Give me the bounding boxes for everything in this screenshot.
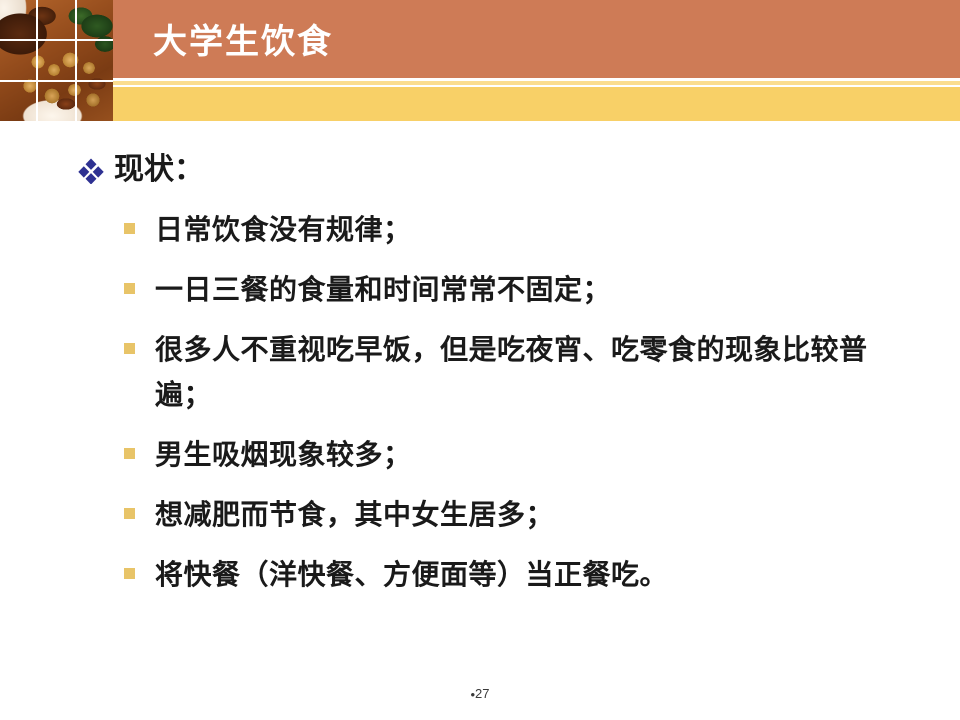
content-heading-row: 现状： bbox=[78, 150, 204, 190]
list-item: 男生吸烟现象较多； bbox=[124, 432, 924, 477]
list-item: 将快餐（洋快餐、方便面等）当正餐吃。 bbox=[124, 552, 924, 597]
food-photo-art bbox=[38, 0, 74, 39]
slide-title: 大学生饮食 bbox=[153, 14, 853, 70]
list-item-label: 男生吸烟现象较多； bbox=[155, 432, 412, 477]
food-photo-art bbox=[0, 82, 36, 121]
list-item-label: 一日三餐的食量和时间常常不固定； bbox=[155, 267, 611, 312]
food-photo-art bbox=[77, 0, 113, 39]
list-item-label: 将快餐（洋快餐、方便面等）当正餐吃。 bbox=[155, 552, 668, 597]
list-item: 很多人不重视吃早饭，但是吃夜宵、吃零食的现象比较普遍； bbox=[124, 327, 924, 417]
page-number: •27 bbox=[470, 686, 489, 701]
header-food-photo bbox=[0, 0, 113, 121]
square-bullet-icon bbox=[124, 283, 135, 294]
square-bullet-icon bbox=[124, 343, 135, 354]
header-yellow-band bbox=[113, 87, 960, 121]
slide-body: 现状： 日常饮食没有规律； 一日三餐的食量和时间常常不固定； 很多人不重视吃早饭… bbox=[0, 125, 960, 670]
list-item-label: 日常饮食没有规律； bbox=[155, 207, 412, 252]
food-photo-art bbox=[0, 0, 36, 39]
slide: 大学生饮食 现状： 日常饮食没有规律； 一日三餐的食量和时间常常不固定； bbox=[0, 0, 960, 720]
list-item: 日常饮食没有规律； bbox=[124, 207, 924, 252]
food-photo-art bbox=[77, 82, 113, 121]
content-heading: 现状： bbox=[114, 150, 204, 190]
square-bullet-icon bbox=[124, 448, 135, 459]
photo-tile bbox=[0, 0, 36, 39]
list-item: 一日三餐的食量和时间常常不固定； bbox=[124, 267, 924, 312]
slide-header: 大学生饮食 bbox=[0, 0, 960, 125]
photo-tile bbox=[0, 82, 36, 121]
square-bullet-icon bbox=[124, 508, 135, 519]
square-bullet-icon bbox=[124, 223, 135, 234]
food-photo-art bbox=[38, 82, 74, 121]
bullet-list: 日常饮食没有规律； 一日三餐的食量和时间常常不固定； 很多人不重视吃早饭，但是吃… bbox=[124, 207, 924, 612]
diamond-cluster-bullet-icon bbox=[78, 158, 104, 184]
photo-tile bbox=[0, 41, 36, 80]
list-item-label: 很多人不重视吃早饭，但是吃夜宵、吃零食的现象比较普遍； bbox=[155, 327, 895, 417]
food-photo-art bbox=[0, 41, 36, 80]
photo-tile bbox=[38, 82, 74, 121]
food-photo-art bbox=[77, 41, 113, 80]
page-number-value: 27 bbox=[475, 686, 489, 701]
food-photo-art bbox=[38, 41, 74, 80]
photo-tile bbox=[38, 0, 74, 39]
list-item: 想减肥而节食，其中女生居多； bbox=[124, 492, 924, 537]
square-bullet-icon bbox=[124, 568, 135, 579]
photo-tile bbox=[38, 41, 74, 80]
list-item-label: 想减肥而节食，其中女生居多； bbox=[155, 492, 554, 537]
slide-footer: •27 bbox=[0, 685, 960, 703]
photo-tile bbox=[77, 82, 113, 121]
photo-tile bbox=[77, 0, 113, 39]
photo-tile bbox=[77, 41, 113, 80]
